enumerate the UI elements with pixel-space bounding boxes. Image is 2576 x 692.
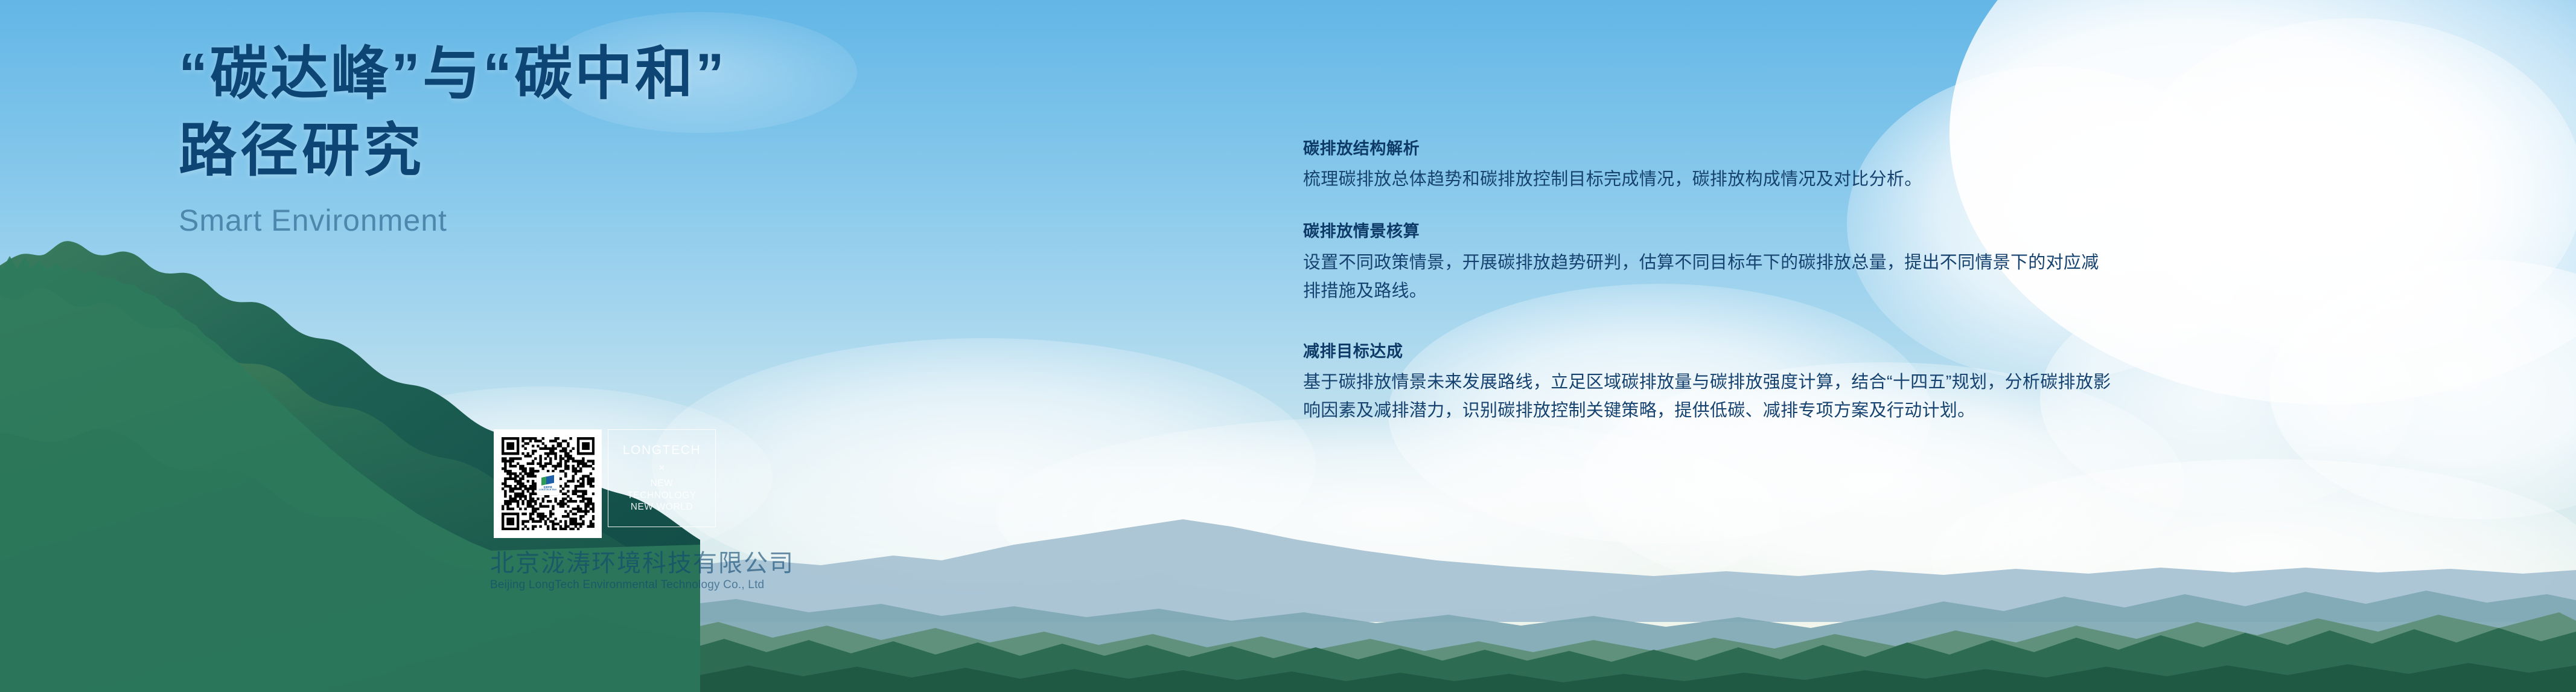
brand-card: 泷涛环境 LONGTECH ENV LONGTECH × NEW TECHNOL… (494, 429, 716, 538)
brand-name: LONGTECH (623, 443, 701, 458)
company-name-en: Beijing LongTech Environmental Technolog… (490, 578, 750, 592)
feature-item-3: 减排目标达成 基于碳排放情景未来发展路线，立足区域碳排放量与碳排放强度计算，结合… (1303, 341, 2124, 425)
feature-heading-1: 碳排放结构解析 (1303, 138, 2124, 159)
hero-text-block: “碳达峰”与“碳中和” 路径研究 Smart Environment (179, 36, 831, 239)
brand-tagline-line-1: NEW (627, 478, 697, 489)
qr-center-logo: 泷涛环境 LONGTECH ENV (537, 472, 560, 495)
qr-code[interactable]: 泷涛环境 LONGTECH ENV (494, 429, 602, 538)
brand-tagline-line-3: NEW WORLD (627, 501, 697, 513)
brand-tagline: NEW TECHNOLOGY NEW WORLD (627, 478, 697, 513)
longtech-logo-icon (541, 476, 555, 485)
qr-logo-caption: 泷涛环境 LONGTECH ENV (539, 487, 556, 491)
brand-tagline-line-2: TECHNOLOGY (627, 490, 697, 501)
company-watermark: 北京泷涛环境科技有限公司 Beijing LongTech Environmen… (490, 551, 750, 592)
feature-body-3: 基于碳排放情景未来发展路线，立足区域碳排放量与碳排放强度计算，结合“十四五”规划… (1303, 368, 2112, 425)
hero-subtitle: Smart Environment (179, 202, 831, 239)
feature-heading-2: 碳排放情景核算 (1303, 220, 2124, 242)
company-name-cn: 北京泷涛环境科技有限公司 (490, 551, 750, 576)
feature-body-1: 梳理碳排放总体趋势和碳排放控制目标完成情况，碳排放构成情况及对比分析。 (1303, 165, 2112, 194)
hero-banner: “碳达峰”与“碳中和” 路径研究 Smart Environment 碳排放结构… (0, 0, 2576, 692)
hero-title-line-1: “碳达峰”与“碳中和” (179, 36, 831, 113)
feature-heading-3: 减排目标达成 (1303, 341, 2124, 362)
feature-body-2: 设置不同政策情景，开展碳排放趋势研判，估算不同目标年下的碳排放总量，提出不同情景… (1303, 249, 2112, 306)
feature-item-2: 碳排放情景核算 设置不同政策情景，开展碳排放趋势研判，估算不同目标年下的碳排放总… (1303, 220, 2124, 305)
hero-title-line-2: 路径研究 (179, 113, 831, 190)
qr-logo-caption-en: LONGTECH ENV (539, 489, 556, 492)
brand-tagline-box: LONGTECH × NEW TECHNOLOGY NEW WORLD (608, 429, 716, 527)
feature-list: 碳排放结构解析 梳理碳排放总体趋势和碳排放控制目标完成情况，碳排放构成情况及对比… (1303, 138, 2124, 425)
feature-item-1: 碳排放结构解析 梳理碳排放总体趋势和碳排放控制目标完成情况，碳排放构成情况及对比… (1303, 138, 2124, 194)
brand-cross-icon: × (659, 462, 665, 474)
